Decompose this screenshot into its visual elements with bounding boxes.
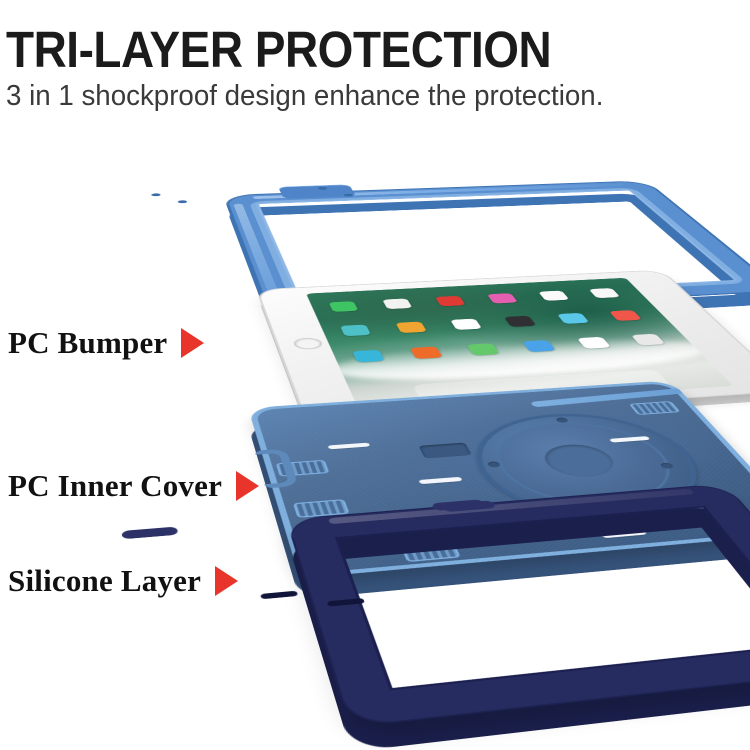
app-icon-grid	[306, 278, 626, 294]
kickstand-slot	[418, 443, 471, 459]
silicone-side-wall	[288, 506, 750, 750]
inner-cover-grip-rib	[400, 541, 461, 562]
tablet-home-button	[292, 337, 325, 350]
bumper-side-highlight	[233, 204, 283, 305]
silicone-button-bump	[121, 526, 178, 539]
bumper-screw-dimple	[151, 193, 161, 196]
triangle-right-icon	[181, 328, 204, 358]
silicone-port-cutout	[327, 598, 365, 607]
callout-label: Silicone Layer	[8, 563, 201, 599]
bumper-screw-dimple	[178, 200, 188, 203]
silicone-button-bump	[441, 500, 496, 512]
bumper-inner-highlight	[249, 188, 748, 307]
silicone-button-bump	[431, 499, 486, 511]
app-icon	[557, 313, 590, 324]
inner-cover-body	[248, 380, 750, 578]
silicone-frame	[288, 484, 750, 725]
app-icon	[487, 293, 518, 303]
app-icon	[577, 337, 611, 349]
inner-cover-grip-rib	[293, 499, 350, 518]
silicone-port-cutout	[260, 591, 298, 600]
product-exploded-view	[0, 0, 750, 750]
inner-cover-vent-slot	[508, 534, 555, 543]
page-title: TRI-LAYER PROTECTION	[6, 24, 551, 76]
inner-cover-texture	[248, 380, 750, 578]
triangle-right-icon	[215, 566, 238, 596]
app-icon	[609, 310, 642, 321]
tablet-side-wall	[258, 278, 750, 432]
app-icon	[538, 291, 569, 301]
callout-silicone-layer: Silicone Layer	[8, 563, 238, 599]
app-icon	[589, 288, 621, 298]
app-icon	[450, 319, 482, 330]
app-icon	[395, 322, 427, 334]
inner-cover-grip-rib	[276, 460, 330, 477]
callout-pc-bumper: PC Bumper	[8, 325, 204, 361]
inner-cover-vent-slot	[418, 477, 462, 484]
app-icon	[466, 343, 499, 355]
callout-label: PC Inner Cover	[8, 468, 222, 504]
app-icon	[329, 301, 359, 312]
inner-cover-vent-slot	[328, 443, 371, 450]
app-icon	[631, 334, 666, 346]
inner-cover-strap-bar	[530, 388, 685, 407]
app-icon	[504, 316, 536, 327]
bumper-home-button-notch	[278, 184, 357, 199]
kickstand-nub	[555, 417, 569, 423]
triangle-right-icon	[236, 471, 259, 501]
callout-pc-inner-cover: PC Inner Cover	[8, 468, 259, 504]
inner-cover-vent-slot	[609, 436, 651, 443]
tablet-screen	[306, 278, 733, 411]
tablet-dock	[412, 369, 671, 402]
kickstand-ring-outer	[453, 408, 733, 526]
app-icon	[410, 346, 443, 359]
callout-label: PC Bumper	[8, 325, 167, 361]
wallpaper-wave	[323, 333, 722, 387]
inner-cover-side-wall	[248, 397, 750, 599]
bumper-screw-dimple	[343, 194, 353, 197]
kickstand-ring-inner	[478, 418, 697, 511]
app-icon	[522, 340, 556, 352]
page-subtitle: 3 in 1 shockproof design enhance the pro…	[6, 80, 603, 112]
bumper-frame	[226, 181, 750, 317]
bumper-side-wall	[226, 193, 750, 332]
app-icon	[340, 325, 371, 337]
inner-cover-grip-rib	[629, 401, 681, 415]
inner-cover-latch-hook	[255, 448, 299, 488]
bumper-top-highlight	[252, 183, 626, 199]
tablet-body	[258, 270, 750, 423]
infographic-canvas: TRI-LAYER PROTECTION 3 in 1 shockproof d…	[0, 0, 750, 750]
inner-cover-vent-slot	[601, 530, 648, 539]
kickstand-nub	[487, 461, 502, 467]
silicone-top-highlight	[328, 489, 695, 525]
app-icon	[435, 296, 466, 307]
kickstand-hub	[536, 443, 622, 479]
app-icon	[382, 298, 412, 309]
app-icon	[352, 350, 385, 363]
kickstand-nub	[659, 463, 674, 469]
bumper-screw-dimple	[318, 187, 328, 190]
